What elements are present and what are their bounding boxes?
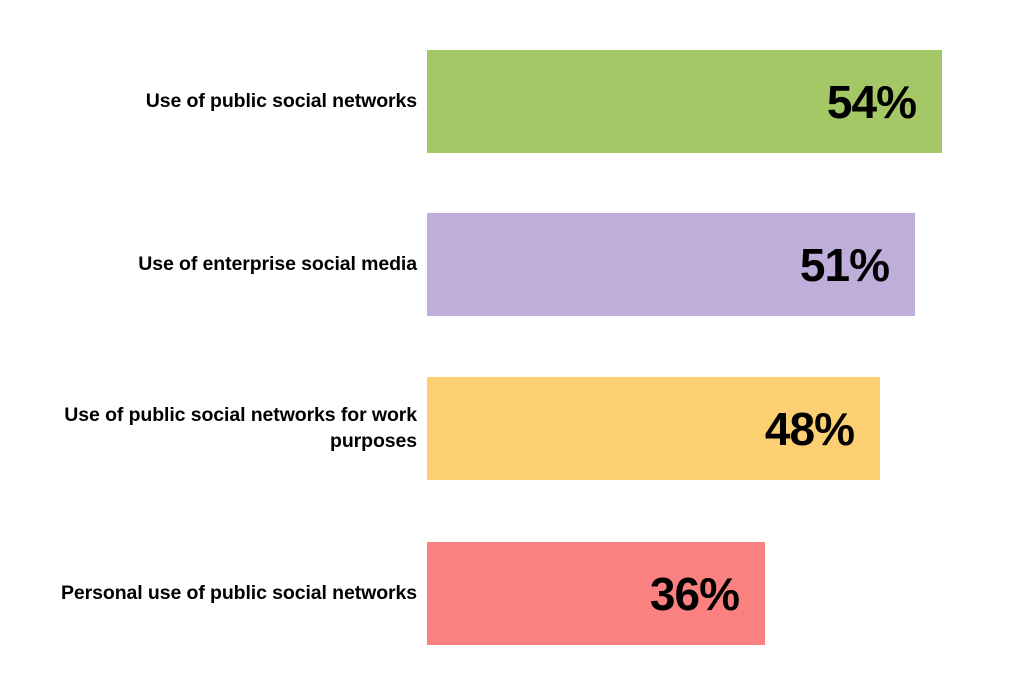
bar-track: 36%	[427, 542, 1024, 645]
bar-value-label: 36%	[650, 571, 739, 617]
bar-segment: 48%	[427, 377, 880, 480]
bar-row: Use of public social networks 54%	[0, 50, 1024, 153]
bar-category-label: Use of public social networks for work p…	[0, 403, 427, 454]
bar-track: 51%	[427, 213, 1024, 316]
bar-category-label: Use of enterprise social media	[0, 252, 427, 278]
bar-value-label: 51%	[800, 242, 889, 288]
bar-track: 54%	[427, 50, 1024, 153]
bar-chart: Use of public social networks 54% Use of…	[0, 0, 1024, 697]
bar-row: Use of enterprise social media 51%	[0, 213, 1024, 316]
bar-segment: 36%	[427, 542, 765, 645]
bar-segment: 51%	[427, 213, 915, 316]
bar-segment: 54%	[427, 50, 942, 153]
bar-value-label: 48%	[765, 406, 854, 452]
bar-row: Personal use of public social networks 3…	[0, 542, 1024, 645]
bar-category-label: Personal use of public social networks	[0, 581, 427, 607]
bar-category-label: Use of public social networks	[0, 89, 427, 115]
bar-track: 48%	[427, 377, 1024, 480]
bar-row: Use of public social networks for work p…	[0, 377, 1024, 480]
bar-value-label: 54%	[827, 79, 916, 125]
